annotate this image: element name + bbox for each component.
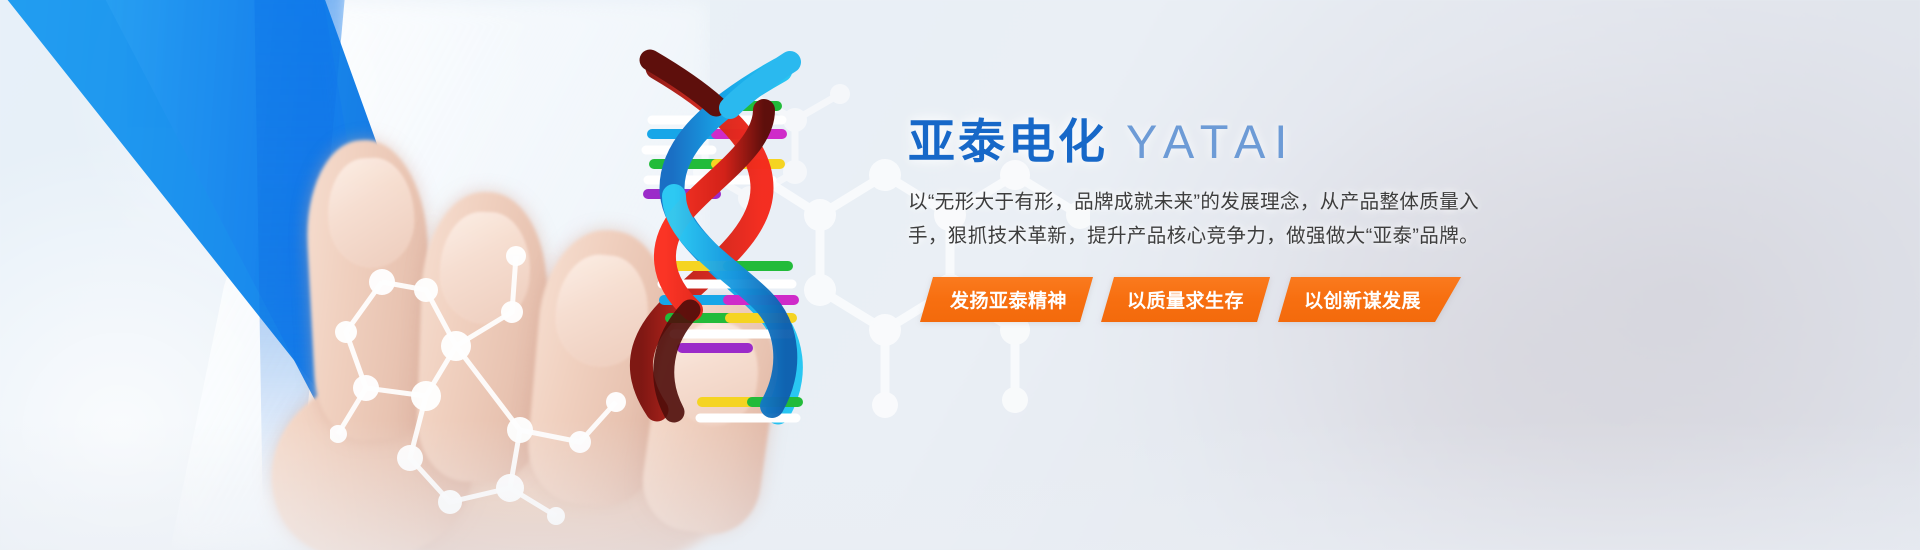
banner-description-line-2: 手，狠抓技术革新，提升产品核心竞争力，做强做大“亚泰”品牌。: [908, 219, 1428, 253]
molecule-network-icon: [330, 220, 690, 530]
page-title: 亚泰电化YATAI: [908, 118, 1528, 165]
banner-text-block: 亚泰电化YATAI 以“无形大于有形，品牌成就未来”的发展理念，从产品整体质量入…: [908, 118, 1528, 322]
slogan-tag-1[interactable]: 以质量求生存: [1101, 277, 1270, 322]
slogan-tag-0[interactable]: 发扬亚泰精神: [920, 277, 1093, 322]
page-title-cn: 亚泰电化: [908, 115, 1108, 168]
slogan-bar: 发扬亚泰精神 以质量求生存 以创新谋发展: [920, 277, 1528, 322]
banner-description: 以“无形大于有形，品牌成就未来”的发展理念，从产品整体质量入 手，狠抓技术革新，…: [908, 185, 1428, 253]
page-title-en: YATAI: [1126, 115, 1296, 168]
banner-description-line-1: 以“无形大于有形，品牌成就未来”的发展理念，从产品整体质量入: [908, 185, 1428, 219]
hero-banner: 亚泰电化YATAI 以“无形大于有形，品牌成就未来”的发展理念，从产品整体质量入…: [0, 0, 1920, 550]
slogan-tag-2[interactable]: 以创新谋发展: [1278, 277, 1461, 322]
